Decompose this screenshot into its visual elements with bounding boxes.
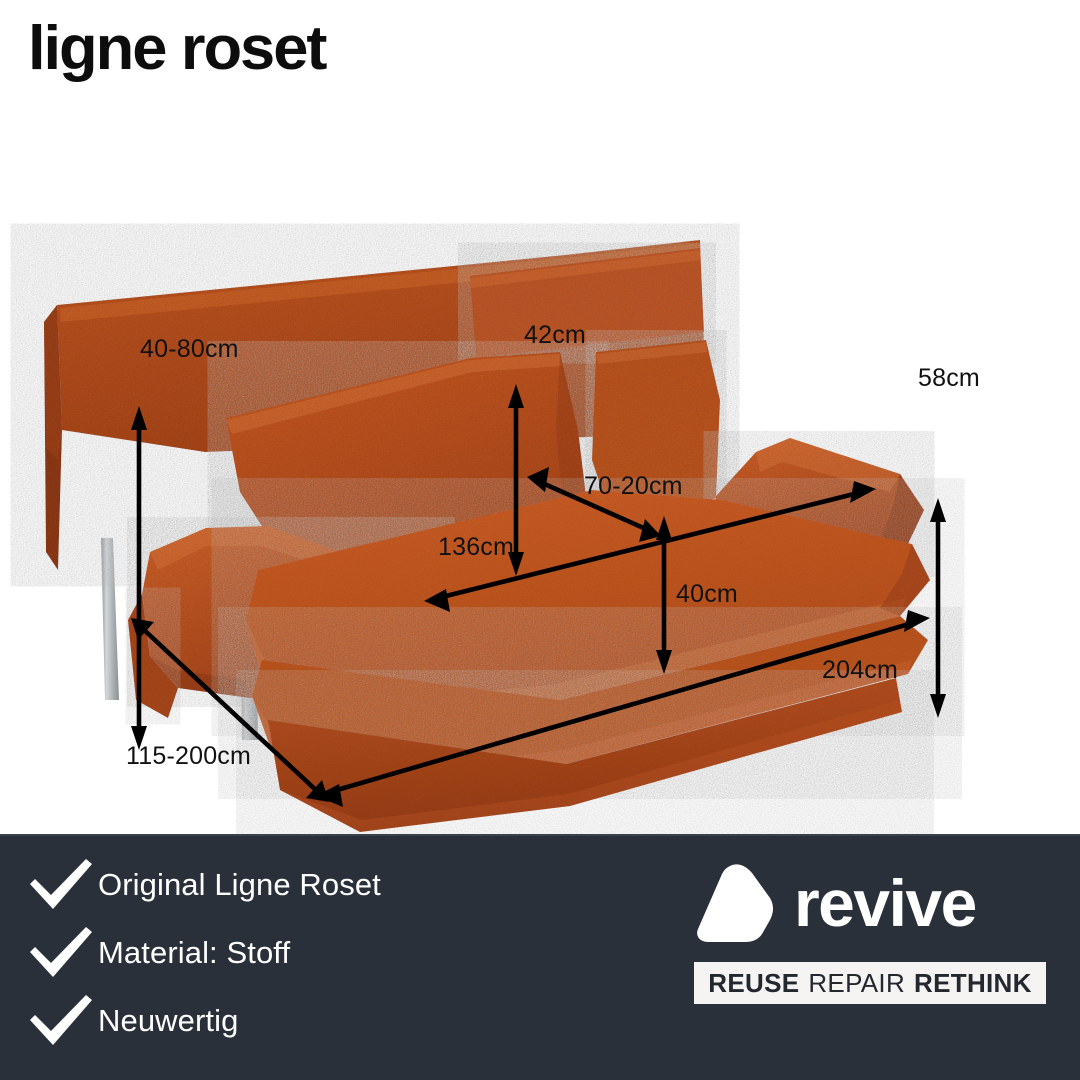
dimension-label-seat-width: 136cm — [438, 533, 514, 562]
arrow-armrest-height — [930, 498, 946, 718]
leaf-wedge-icon-glyph — [694, 862, 780, 944]
tagline-word-repair: REPAIR — [808, 968, 905, 999]
revive-logo: revive REUSE REPAIR RETHINK — [694, 860, 1046, 1004]
check-icon — [24, 857, 98, 913]
product-photo — [0, 100, 1080, 834]
feature-label: Original Ligne Roset — [98, 867, 381, 903]
feature-label: Neuwertig — [98, 1003, 238, 1039]
dimension-label-total-depth: 115-200cm — [126, 742, 251, 771]
dimension-label-total-width: 204cm — [822, 656, 898, 685]
check-icon-glyph — [24, 993, 98, 1049]
revive-logo-row: revive — [694, 860, 1046, 946]
dimension-label-armrest-height: 58cm — [918, 364, 980, 393]
check-icon-glyph — [24, 925, 98, 981]
sofa-illustration — [0, 100, 1080, 834]
tagline-word-rethink: RETHINK — [914, 968, 1032, 999]
check-icon — [24, 993, 98, 1049]
tagline-word-reuse: REUSE — [708, 968, 799, 999]
feature-item: Original Ligne Roset — [24, 852, 381, 918]
revive-tagline: REUSE REPAIR RETHINK — [694, 962, 1046, 1004]
feature-item: Material: Stoff — [24, 920, 381, 986]
ligne-roset-logo: ligne roset — [28, 18, 325, 80]
product-image-card: ligne roset — [0, 0, 1080, 1080]
dimension-label-seat-height: 40cm — [676, 580, 738, 609]
revive-wordmark: revive — [794, 870, 976, 936]
leaf-wedge-icon — [694, 862, 780, 944]
dimension-label-seat-depth: 70-20cm — [584, 472, 683, 501]
check-icon — [24, 925, 98, 981]
check-icon-glyph — [24, 857, 98, 913]
footer-bar: Original Ligne Roset Material: Stoff Neu… — [0, 834, 1080, 1080]
feature-list: Original Ligne Roset Material: Stoff Neu… — [24, 852, 381, 1054]
dimension-label-backrest-cushion: 42cm — [524, 321, 586, 350]
feature-item: Neuwertig — [24, 988, 381, 1054]
dimension-label-backrest-height: 40-80cm — [140, 335, 239, 364]
feature-label: Material: Stoff — [98, 935, 290, 971]
